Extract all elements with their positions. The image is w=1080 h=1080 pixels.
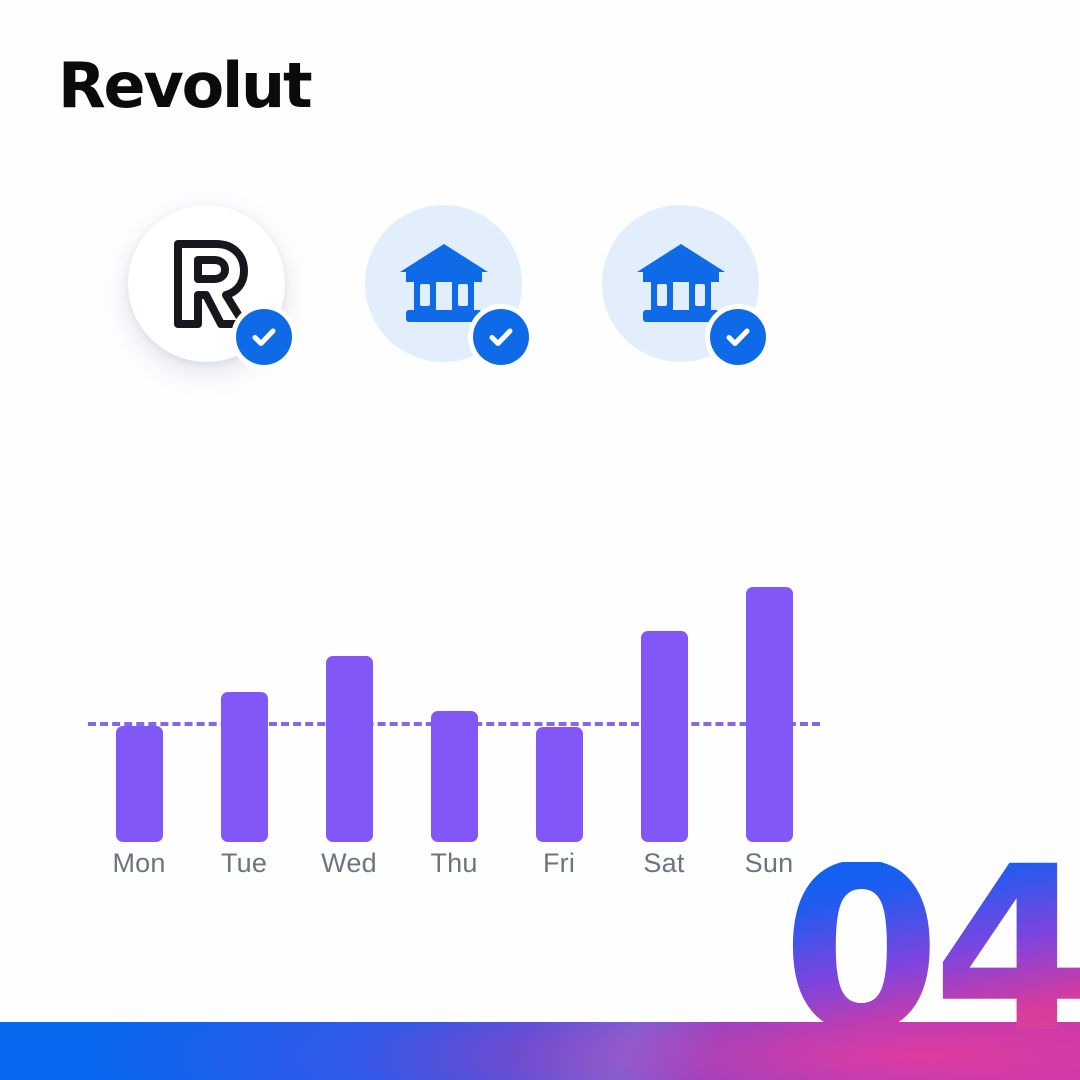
x-label-tue: Tue bbox=[193, 848, 295, 879]
bar-column[interactable] bbox=[88, 560, 190, 842]
bar-column[interactable] bbox=[508, 560, 610, 842]
bar-wed[interactable] bbox=[326, 656, 373, 842]
bar-column[interactable] bbox=[718, 560, 820, 842]
chart-plot-area bbox=[88, 560, 820, 842]
bank-icon bbox=[398, 242, 490, 326]
bar-sun[interactable] bbox=[746, 587, 793, 842]
x-axis-labels: MonTueWedThuFriSatSun bbox=[88, 848, 820, 879]
x-label-fri: Fri bbox=[508, 848, 610, 879]
revolut-r-icon bbox=[164, 238, 250, 330]
account-badge-bank-1[interactable] bbox=[365, 205, 522, 362]
bar-column[interactable] bbox=[298, 560, 400, 842]
bar-sat[interactable] bbox=[641, 631, 688, 842]
bar-fri[interactable] bbox=[536, 727, 583, 842]
account-badge-revolut[interactable] bbox=[128, 205, 285, 362]
linked-accounts-row bbox=[128, 205, 759, 362]
bank-icon bbox=[635, 242, 727, 326]
x-label-sat: Sat bbox=[613, 848, 715, 879]
check-icon bbox=[710, 309, 766, 365]
bar-column[interactable] bbox=[193, 560, 295, 842]
x-label-mon: Mon bbox=[88, 848, 190, 879]
x-label-thu: Thu bbox=[403, 848, 505, 879]
brand-wordmark: Revolut bbox=[58, 55, 310, 117]
x-label-wed: Wed bbox=[298, 848, 400, 879]
verified-badge bbox=[231, 304, 297, 370]
bar-column[interactable] bbox=[613, 560, 715, 842]
check-icon bbox=[236, 309, 292, 365]
slide-number: 04 bbox=[782, 862, 1080, 1040]
bar-thu[interactable] bbox=[431, 711, 478, 842]
bar-column[interactable] bbox=[403, 560, 505, 842]
check-icon bbox=[473, 309, 529, 365]
bar-tue[interactable] bbox=[221, 692, 268, 842]
account-badge-bank-2[interactable] bbox=[602, 205, 759, 362]
bar-series bbox=[88, 560, 820, 842]
bar-mon[interactable] bbox=[116, 726, 163, 842]
slide-canvas: Revolut bbox=[0, 0, 1080, 1080]
verified-badge bbox=[705, 304, 771, 370]
verified-badge bbox=[468, 304, 534, 370]
